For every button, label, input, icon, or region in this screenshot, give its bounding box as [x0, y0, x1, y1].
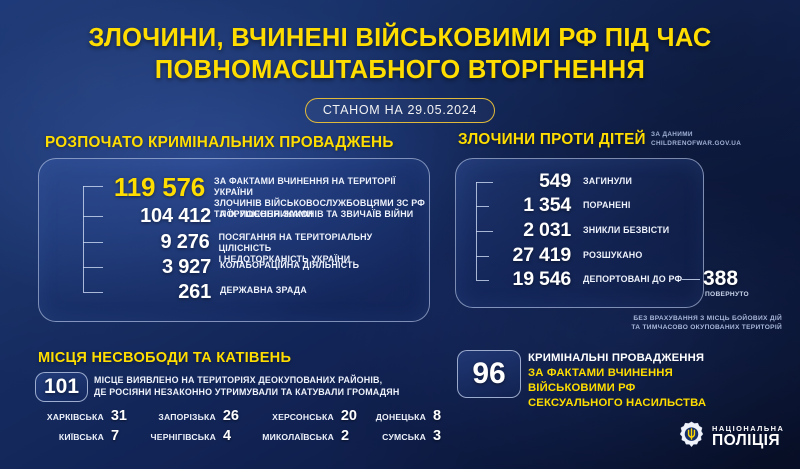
- page-title-line-1: ЗЛОЧИНИ, ВЧИНЕНІ ВІЙСЬКОВИМИ РФ ПІД ЧАС: [0, 22, 800, 54]
- children-tick: [476, 256, 489, 257]
- region-item: ЗАПОРІЗЬКА 26: [127, 409, 239, 424]
- region-name: МИКОЛАЇВСЬКА: [262, 432, 334, 442]
- children-row: 1 354 ПОРАНЕНІ: [489, 196, 689, 216]
- children-value: 549: [493, 172, 571, 192]
- region-name: ЧЕРНІГІВСЬКА: [151, 432, 216, 442]
- proceedings-tick: [83, 242, 103, 243]
- detention-desc-line: ДЕ РОСІЯНИ НЕЗАКОННО УТРИМУВАЛИ ТА КАТУВ…: [94, 387, 399, 399]
- sexual-violence-line: ВІЙСЬКОВИМИ РФ: [528, 381, 706, 396]
- proceedings-value: 104 412: [103, 206, 211, 226]
- region-item: СУМСЬКА 3: [357, 429, 449, 444]
- proceedings-brace: [83, 186, 84, 292]
- proceedings-tick: [83, 267, 103, 268]
- region-item: ЧЕРНІГІВСЬКА 4: [127, 429, 239, 444]
- region-item: ХАРКІВСЬКА 31: [15, 409, 127, 424]
- proceedings-description: ПОРУШЕННЯ ЗАКОНІВ ТА ЗВИЧАЇВ ВІЙНИ: [220, 209, 413, 220]
- proceedings-tick: [83, 292, 103, 293]
- region-value: 31: [111, 409, 127, 424]
- children-value: 1 354: [489, 196, 571, 216]
- region-name: СУМСЬКА: [382, 432, 426, 442]
- children-value: 2 031: [493, 221, 571, 241]
- proceedings-description: КОЛАБОРАЦІЙНА ДІЯЛЬНІСТЬ: [220, 260, 359, 271]
- proceedings-heading: РОЗПОЧАТО КРИМІНАЛЬНИХ ПРОВАДЖЕНЬ: [45, 134, 394, 152]
- region-value: 3: [433, 429, 449, 444]
- infographic-page: ЗЛОЧИНИ, ВЧИНЕНІ ВІЙСЬКОВИМИ РФ ПІД ЧАС …: [0, 0, 800, 469]
- police-logo-text: НАЦІОНАЛЬНА ПОЛІЦІЯ: [712, 425, 784, 449]
- sexual-violence-description: КРИМІНАЛЬНІ ПРОВАДЖЕННЯ ЗА ФАКТАМИ ВЧИНЕ…: [528, 351, 706, 412]
- children-value: 27 419: [489, 246, 571, 266]
- proceedings-tick: [83, 216, 103, 217]
- region-item: МИКОЛАЇВСЬКА 2: [239, 429, 357, 444]
- date-badge: СТАНОМ НА 29.05.2024: [305, 98, 495, 123]
- sexual-violence-badge-value: 96: [472, 357, 505, 391]
- children-label: ДЕПОРТОВАНІ ДО РФ: [583, 274, 682, 285]
- region-value: 26: [223, 409, 239, 424]
- children-label: ЗАГИНУЛИ: [583, 176, 632, 187]
- children-row: 27 419 РОЗШУКАНО: [489, 246, 689, 266]
- children-label: РОЗШУКАНО: [583, 250, 642, 261]
- sexual-violence-line: КРИМІНАЛЬНІ ПРОВАДЖЕННЯ: [528, 351, 706, 366]
- proceedings-desc-line: ДЕРЖАВНА ЗРАДА: [220, 285, 307, 296]
- region-name: ДОНЕЦЬКА: [376, 412, 426, 422]
- police-badge-icon: [678, 421, 705, 453]
- children-source-line: CHILDRENOFWAR.GOV.UA: [651, 140, 741, 149]
- proceedings-rows: 119 576 ЗА ФАКТАМИ ВЧИНЕННЯ НА ТЕРИТОРІЇ…: [39, 159, 429, 321]
- children-row: 549 ЗАГИНУЛИ: [493, 172, 693, 192]
- sexual-violence-badge: 96: [457, 350, 521, 398]
- sexual-violence-line: СЕКСУАЛЬНОГО НАСИЛЬСТВА: [528, 396, 706, 411]
- proceedings-tick: [83, 186, 103, 187]
- returned-connector: [682, 279, 700, 280]
- children-tick: [476, 280, 489, 281]
- returned-value: 388: [703, 268, 738, 289]
- children-rows: 549 ЗАГИНУЛИ 1 354 ПОРАНЕНІ 2 031 ЗНИКЛИ…: [456, 159, 703, 307]
- region-name: ХАРКІВСЬКА: [47, 412, 104, 422]
- proceedings-value: 3 927: [103, 257, 211, 277]
- children-footnote-line: ТА ТИМЧАСОВО ОКУПОВАНИХ ТЕРИТОРІЙ: [502, 323, 782, 332]
- region-value: 8: [433, 409, 449, 424]
- children-card: 549 ЗАГИНУЛИ 1 354 ПОРАНЕНІ 2 031 ЗНИКЛИ…: [455, 158, 704, 308]
- children-footnote: БЕЗ ВРАХУВАННЯ З МІСЦЬ БОЙОВИХ ДІЙ ТА ТИ…: [502, 314, 782, 332]
- detention-description: МІСЦЕ ВИЯВЛЕНО НА ТЕРИТОРІЯХ ДЕОКУПОВАНИ…: [94, 375, 399, 398]
- proceedings-value: 119 576: [103, 174, 205, 200]
- returned-label: ПОВЕРНУТО: [705, 291, 749, 298]
- proceedings-desc-line: ПОРУШЕННЯ ЗАКОНІВ ТА ЗВИЧАЇВ ВІЙНИ: [220, 209, 413, 220]
- proceedings-row: 3 927 КОЛАБОРАЦІЙНА ДІЯЛЬНІСТЬ: [103, 257, 425, 277]
- children-row: 2 031 ЗНИКЛИ БЕЗВІСТИ: [493, 221, 693, 241]
- children-tick: [476, 182, 493, 183]
- sexual-violence-line: ЗА ФАКТАМИ ВЧИНЕННЯ: [528, 366, 706, 381]
- detention-desc-line: МІСЦЕ ВИЯВЛЕНО НА ТЕРИТОРІЯХ ДЕОКУПОВАНИ…: [94, 375, 399, 387]
- proceedings-desc-line: ЗА ФАКТАМИ ВЧИНЕННЯ НА ТЕРИТОРІЇ УКРАЇНИ: [214, 176, 425, 198]
- page-title-line-2: ПОВНОМАСШТАБНОГО ВТОРГНЕННЯ: [0, 54, 800, 86]
- header: ЗЛОЧИНИ, ВЧИНЕНІ ВІЙСЬКОВИМИ РФ ПІД ЧАС …: [0, 22, 800, 123]
- region-item: ДОНЕЦЬКА 8: [357, 409, 449, 424]
- children-tick: [476, 231, 493, 232]
- children-label: ПОРАНЕНІ: [583, 200, 630, 211]
- region-name: КИЇВСЬКА: [59, 432, 104, 442]
- region-value: 20: [341, 409, 357, 424]
- proceedings-description: ДЕРЖАВНА ЗРАДА: [220, 285, 307, 296]
- detention-regions: ХАРКІВСЬКА 31 ЗАПОРІЗЬКА 26 ХЕРСОНСЬКА 2…: [15, 409, 449, 443]
- region-value: 4: [223, 429, 239, 444]
- region-value: 2: [341, 429, 357, 444]
- proceedings-row: 261 ДЕРЖАВНА ЗРАДА: [103, 282, 425, 302]
- region-item: ХЕРСОНСЬКА 20: [239, 409, 357, 424]
- detention-badge-value: 101: [44, 375, 79, 399]
- children-source-line: ЗА ДАНИМИ: [651, 131, 741, 140]
- police-logo-bottom: ПОЛІЦІЯ: [712, 433, 784, 449]
- children-row: 19 546 ДЕПОРТОВАНІ ДО РФ: [489, 270, 689, 290]
- children-heading: ЗЛОЧИНИ ПРОТИ ДІТЕЙ: [458, 131, 646, 149]
- proceedings-row: 104 412 ПОРУШЕННЯ ЗАКОНІВ ТА ЗВИЧАЇВ ВІЙ…: [103, 206, 425, 226]
- detention-badge: 101: [35, 372, 88, 402]
- region-name: ХЕРСОНСЬКА: [272, 412, 334, 422]
- proceedings-desc-line: КОЛАБОРАЦІЙНА ДІЯЛЬНІСТЬ: [220, 260, 359, 271]
- police-logo: НАЦІОНАЛЬНА ПОЛІЦІЯ: [678, 421, 784, 453]
- proceedings-card: 119 576 ЗА ФАКТАМИ ВЧИНЕННЯ НА ТЕРИТОРІЇ…: [38, 158, 430, 322]
- children-source: ЗА ДАНИМИ CHILDRENOFWAR.GOV.UA: [651, 131, 741, 148]
- children-tick: [476, 206, 489, 207]
- region-value: 7: [111, 429, 127, 444]
- region-name: ЗАПОРІЗЬКА: [158, 412, 215, 422]
- children-label: ЗНИКЛИ БЕЗВІСТИ: [583, 225, 669, 236]
- proceedings-value: 261: [103, 282, 211, 302]
- proceedings-value: 9 276: [103, 232, 210, 252]
- detention-heading: МІСЦЯ НЕСВОБОДИ ТА КАТІВЕНЬ: [38, 350, 291, 366]
- region-item: КИЇВСЬКА 7: [15, 429, 127, 444]
- children-value: 19 546: [489, 270, 571, 290]
- children-footnote-line: БЕЗ ВРАХУВАННЯ З МІСЦЬ БОЙОВИХ ДІЙ: [502, 314, 782, 323]
- proceedings-desc-line: ПОСЯГАННЯ НА ТЕРИТОРІАЛЬНУ ЦІЛІСНІСТЬ: [219, 232, 425, 254]
